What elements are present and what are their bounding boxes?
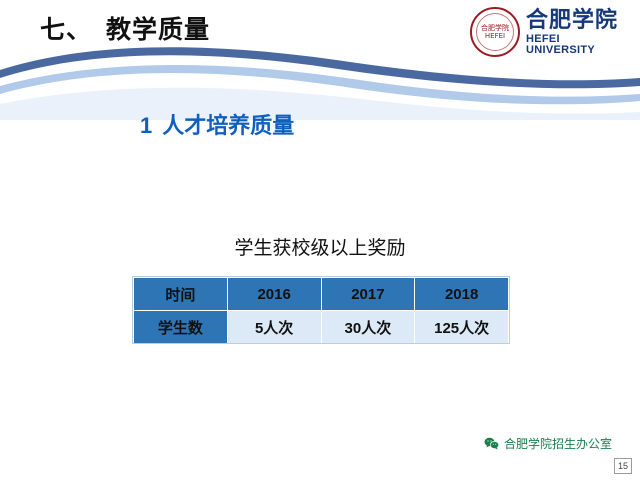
- section-heading: 1人才培养质量: [140, 108, 294, 140]
- table-header-cell: 时间: [134, 278, 228, 311]
- section-number: 1: [140, 113, 152, 138]
- table-header-cell: 2017: [321, 278, 415, 311]
- seal-text-bottom: HEFEI: [472, 32, 518, 40]
- table-cell: 30人次: [321, 311, 415, 344]
- logo-name-en: HEFEI UNIVERSITY: [526, 34, 630, 56]
- table-row-label: 学生数: [134, 311, 228, 344]
- section-text: 人才培养质量: [162, 113, 294, 138]
- wechat-label: 合肥学院招生办公室: [504, 435, 612, 452]
- table-header-cell: 2018: [415, 278, 509, 311]
- university-logo: 合肥学院 HEFEI 合肥学院 HEFEI UNIVERSITY: [470, 6, 630, 58]
- university-seal-icon: 合肥学院 HEFEI: [470, 7, 520, 57]
- slide: 七、教学质量 合肥学院 HEFEI 合肥学院 HEFEI UNIVERSITY …: [0, 0, 640, 480]
- logo-name-cn: 合肥学院: [526, 9, 630, 31]
- table-cell: 125人次: [415, 311, 509, 344]
- table-header-cell: 2016: [227, 278, 321, 311]
- table-header-row: 时间 2016 2017 2018: [134, 278, 509, 311]
- awards-table: 时间 2016 2017 2018 学生数 5人次 30人次 125人次: [133, 277, 509, 344]
- page-title: 七、教学质量: [40, 10, 210, 46]
- table-caption: 学生获校级以上奖励: [0, 233, 640, 260]
- table-row: 学生数 5人次 30人次 125人次: [134, 311, 509, 344]
- seal-text-top: 合肥学院: [472, 24, 518, 32]
- title-text: 教学质量: [106, 16, 210, 44]
- wechat-account: 合肥学院招生办公室: [484, 435, 612, 452]
- page-number: 15: [614, 458, 632, 474]
- wechat-icon: [484, 437, 499, 450]
- awards-table-wrapper: 时间 2016 2017 2018 学生数 5人次 30人次 125人次: [133, 277, 509, 344]
- logo-text-block: 合肥学院 HEFEI UNIVERSITY: [526, 9, 630, 56]
- title-numeral: 七、: [40, 16, 92, 44]
- table-cell: 5人次: [227, 311, 321, 344]
